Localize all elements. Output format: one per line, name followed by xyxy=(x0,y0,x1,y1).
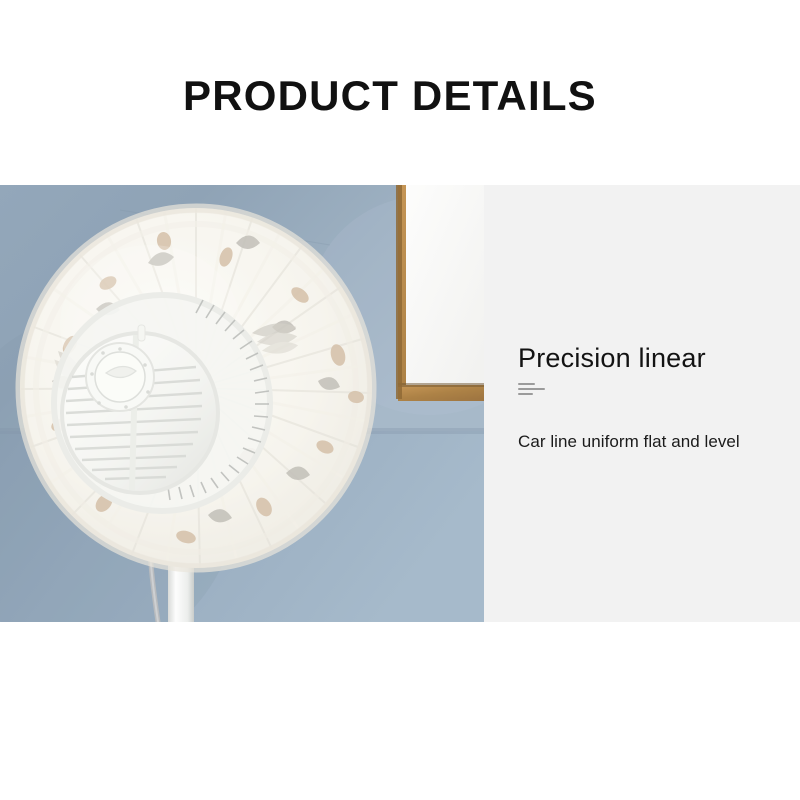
feature-description: Car line uniform flat and level xyxy=(518,432,740,452)
footer-spacer xyxy=(0,622,800,800)
product-photo-illustration xyxy=(0,185,484,622)
feature-heading: Precision linear xyxy=(518,343,706,374)
three-line-divider-icon xyxy=(518,383,554,398)
product-photo xyxy=(0,185,484,622)
product-details-page: PRODUCT DETAILS xyxy=(0,0,800,800)
info-panel: Precision linear Car line uniform flat a… xyxy=(484,185,800,622)
content-band: Precision linear Car line uniform flat a… xyxy=(0,185,800,622)
page-title: PRODUCT DETAILS xyxy=(183,72,597,120)
header: PRODUCT DETAILS xyxy=(0,0,800,185)
wall-frame xyxy=(396,185,484,401)
